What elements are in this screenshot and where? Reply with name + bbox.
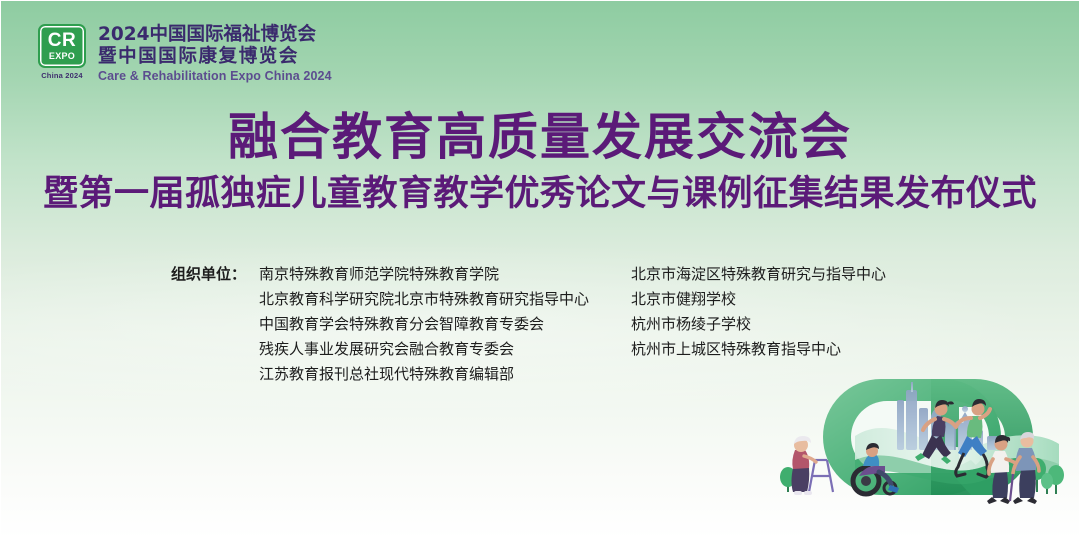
event-brand-header: CR EXPO China 2024 2024中国国际福祉博览会 暨中国国际康复… (37, 24, 332, 83)
organizer-item: 中国教育学会特殊教育分会智障教育专委会 (259, 313, 544, 334)
organizer-item: 江苏教育报刊总社现代特殊教育编辑部 (259, 363, 514, 384)
brand-line-cn-1: 2024中国国际福祉博览会 (98, 24, 332, 46)
caregiver-pants (992, 472, 1008, 498)
brand-text-block: 2024中国国际福祉博览会 暨中国国际康复博览会 Care & Rehabili… (98, 24, 332, 83)
page-subtitle: 暨第一届孤独症儿童教育教学优秀论文与课例征集结果发布仪式 (1, 175, 1079, 214)
organizer-item: 杭州市上城区特殊教育指导中心 (631, 338, 841, 359)
organizer-row: 杭州市上城区特殊教育指导中心 (631, 338, 886, 363)
organizer-item: 北京市海淀区特殊教育研究与指导中心 (631, 263, 886, 284)
organizers-block: 组织单位： 南京特殊教育师范学院特殊教育学院 北京教育科学研究院北京市特殊教育研… (171, 263, 886, 388)
logo-cr-text: CR (48, 31, 76, 50)
walker-person-top (792, 450, 809, 469)
poster-canvas: CR EXPO China 2024 2024中国国际福祉博览会 暨中国国际康复… (0, 0, 1080, 540)
organizers-label: 组织单位： (171, 263, 259, 284)
walker-person-skirt (792, 468, 810, 492)
title-block: 融合教育高质量发展交流会 暨第一届孤独症儿童教育教学优秀论文与课例征集结果发布仪… (1, 111, 1079, 214)
page-title: 融合教育高质量发展交流会 (1, 111, 1079, 164)
walker-frame-icon (809, 460, 833, 492)
organizer-item: 北京市健翔学校 (631, 288, 736, 309)
organizer-row: 残疾人事业发展研究会融合教育专委会 (171, 338, 631, 363)
brand-line-cn-2: 暨中国国际康复博览会 (98, 46, 332, 68)
organizer-row: 北京教育科学研究院北京市特殊教育研究指导中心 (171, 288, 631, 313)
tree-icon-right-3 (1041, 473, 1053, 494)
organizer-item: 残疾人事业发展研究会融合教育专委会 (259, 338, 514, 359)
organizers-column-right: 北京市海淀区特殊教育研究与指导中心 北京市健翔学校 杭州市杨绫子学校 杭州市上城… (631, 263, 886, 388)
cr-people-illustration (759, 364, 1079, 539)
organizer-row: 北京市海淀区特殊教育研究与指导中心 (631, 263, 886, 288)
cr-expo-logo-mark: CR EXPO (38, 24, 86, 68)
organizers-column-left: 组织单位： 南京特殊教育师范学院特殊教育学院 北京教育科学研究院北京市特殊教育研… (171, 263, 631, 388)
organizer-row: 江苏教育报刊总社现代特殊教育编辑部 (171, 363, 631, 388)
organizer-row: 中国教育学会特殊教育分会智障教育专委会 (171, 313, 631, 338)
brand-line-en: Care & Rehabilitation Expo China 2024 (98, 69, 332, 83)
organizer-row: 杭州市杨绫子学校 (631, 313, 886, 338)
illustration-svg (759, 364, 1079, 539)
organizer-row: 组织单位： 南京特殊教育师范学院特殊教育学院 (171, 263, 631, 288)
organizer-item: 南京特殊教育师范学院特殊教育学院 (259, 263, 499, 284)
organizer-item: 北京教育科学研究院北京市特殊教育研究指导中心 (259, 288, 589, 309)
elderly-man-pants (1019, 470, 1036, 498)
logo-year-text: China 2024 (41, 71, 83, 80)
organizer-row: 北京市健翔学校 (631, 288, 886, 313)
cr-expo-logo: CR EXPO China 2024 (37, 24, 87, 80)
logo-expo-text: EXPO (49, 52, 75, 61)
organizer-item: 杭州市杨绫子学校 (631, 313, 751, 334)
